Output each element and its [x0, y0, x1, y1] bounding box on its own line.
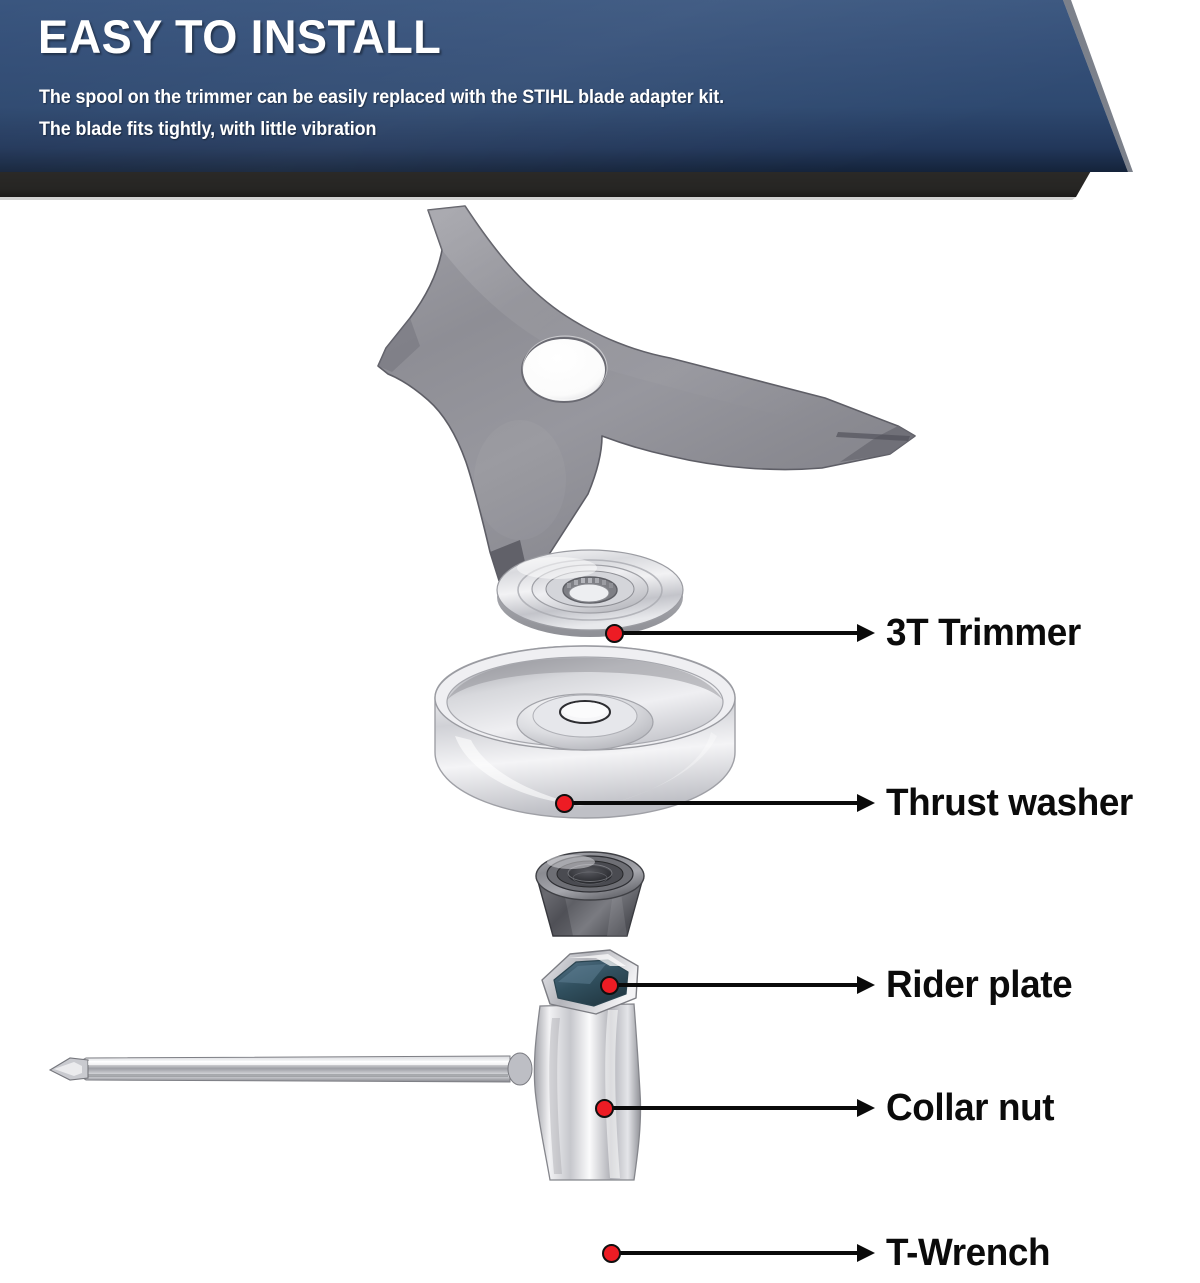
- arrow-right-icon: [857, 976, 875, 994]
- collar-nut-illustration: [515, 840, 665, 955]
- wrench-shaft-highlight: [88, 1061, 508, 1065]
- callout-leader-line: [622, 631, 858, 635]
- blade-center-hole: [522, 338, 606, 402]
- t-wrench-illustration: [30, 940, 670, 1190]
- arrow-right-icon: [857, 1244, 875, 1262]
- part-t-wrench: [30, 940, 670, 1190]
- callout-label-collar-nut: Collar nut: [886, 1087, 1054, 1130]
- arrow-right-icon: [857, 1099, 875, 1117]
- blade-sheen-patch-2: [474, 420, 566, 540]
- callout-label-rider-plate: Rider plate: [886, 964, 1072, 1007]
- banner-shape: [0, 0, 1200, 200]
- callout-label-thrust-washer: Thrust washer: [886, 782, 1133, 825]
- callout-leader-line: [617, 983, 858, 987]
- banner-sheen: [0, 0, 1128, 172]
- wrench-shaft-collar: [508, 1053, 532, 1085]
- blade-sheen-patch-1: [580, 294, 760, 346]
- callout-label-trimmer-blade: 3T Trimmer: [886, 612, 1081, 655]
- exploded-parts-diagram: 3T Trimmer Thrust washer Rider plate Col…: [0, 200, 1200, 1200]
- arrow-right-icon: [857, 794, 875, 812]
- callout-leader-line: [619, 1251, 858, 1255]
- callout-rider-plate: Rider plate: [600, 955, 1078, 1015]
- callout-trimmer-blade: 3T Trimmer: [605, 603, 1087, 663]
- callout-dot-icon: [595, 1099, 614, 1118]
- banner-dark-strip: [0, 169, 1092, 197]
- callout-collar-nut: Collar nut: [595, 1078, 1059, 1138]
- callout-leader-line: [612, 1106, 858, 1110]
- callout-dot-icon: [555, 794, 574, 813]
- plate-hole-highlight: [563, 702, 607, 718]
- callout-leader-line: [572, 801, 858, 805]
- callout-dot-icon: [600, 976, 619, 995]
- wrench-shaft: [68, 1056, 510, 1082]
- banner: EASY TO INSTALL The spool on the trimmer…: [0, 0, 1200, 200]
- nut-highlight: [547, 855, 595, 869]
- part-collar-nut: [515, 840, 665, 955]
- callout-dot-icon: [605, 624, 624, 643]
- arrow-right-icon: [857, 624, 875, 642]
- callout-dot-icon: [602, 1244, 621, 1263]
- wrench-shaft-shadow: [88, 1074, 508, 1077]
- callout-thrust-washer: Thrust washer: [555, 773, 1141, 833]
- washer-highlight: [517, 557, 597, 579]
- washer-bore: [569, 584, 609, 602]
- callout-label-t-wrench: T-Wrench: [886, 1232, 1050, 1275]
- callout-t-wrench: T-Wrench: [602, 1223, 1055, 1283]
